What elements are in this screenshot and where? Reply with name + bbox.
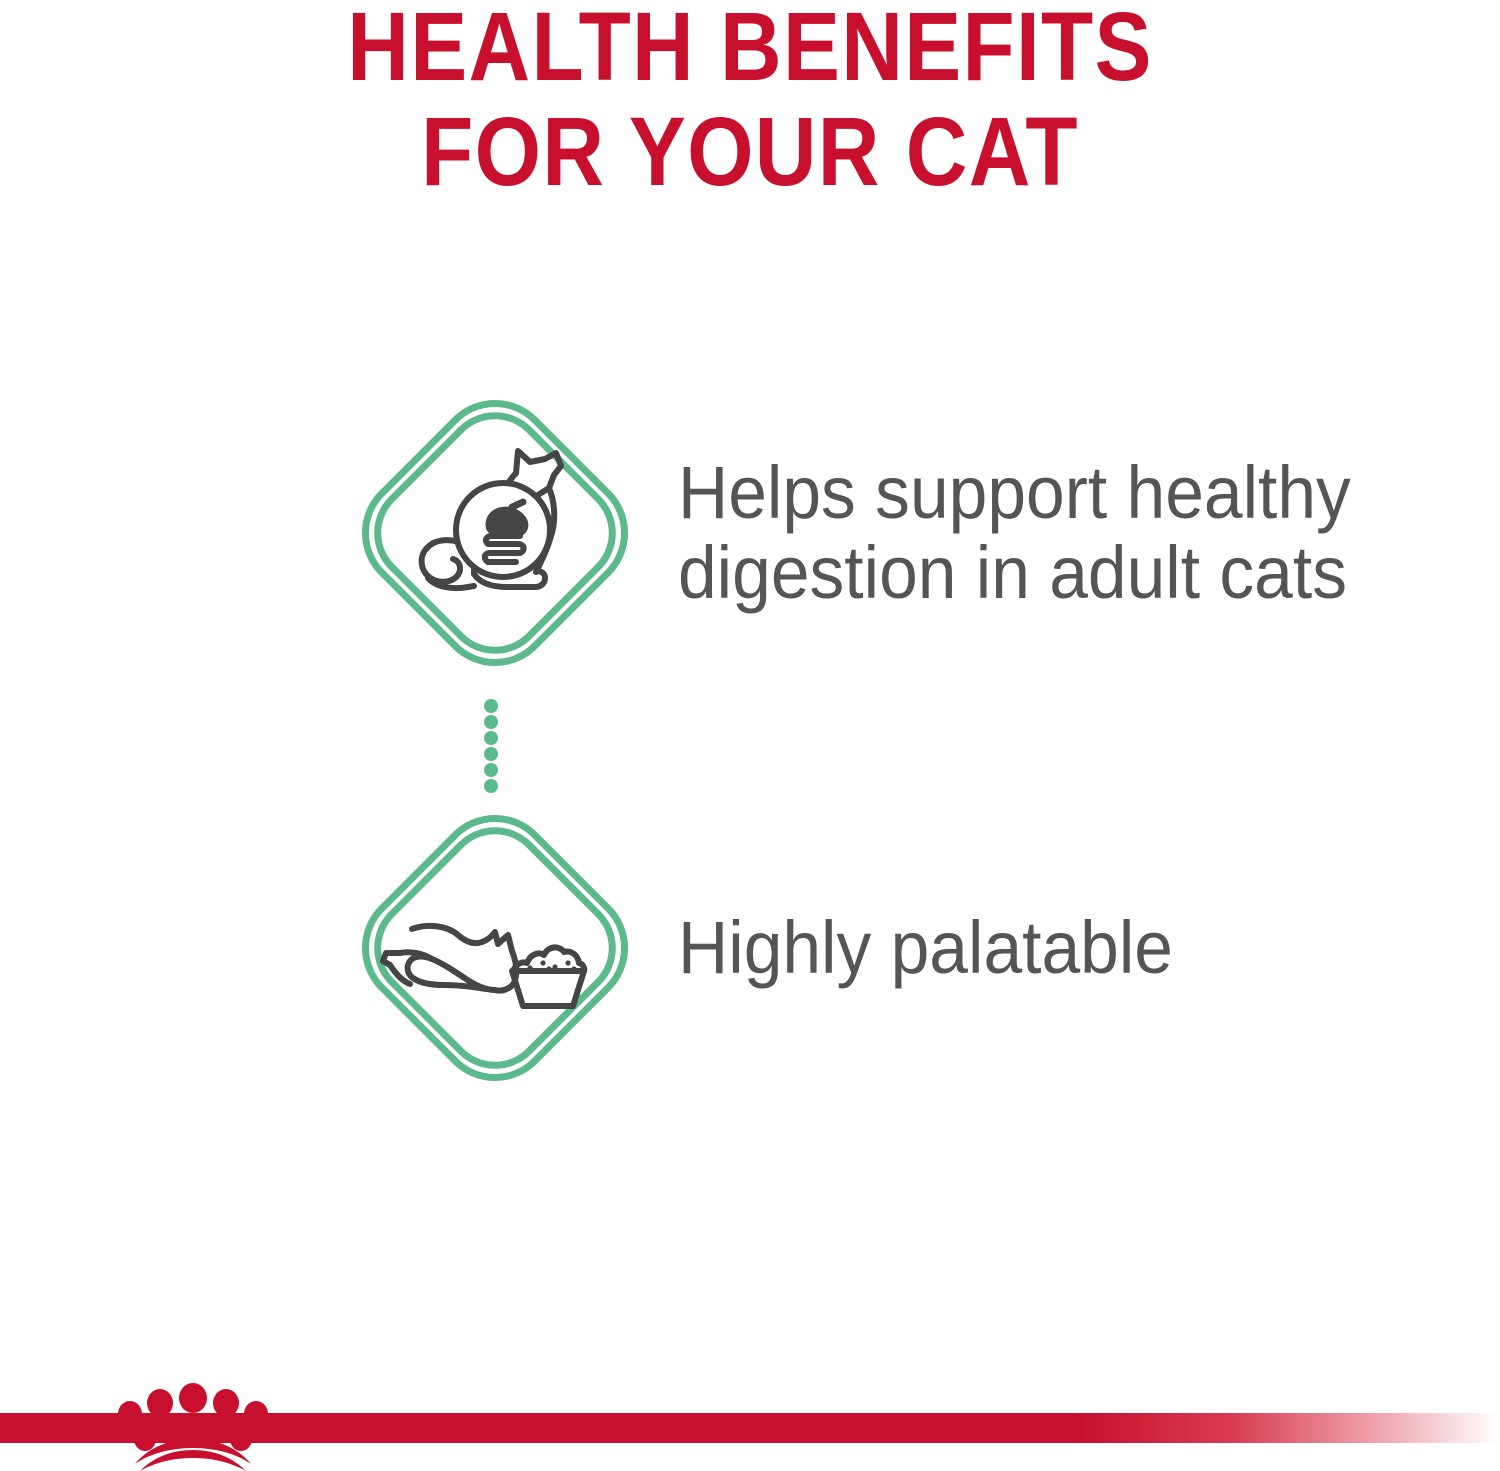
benefit-text-palatable: Highly palatable <box>678 908 1173 988</box>
connector-dot <box>484 747 498 761</box>
benefit-item-digestion: Helps support healthy digestion in adult… <box>340 378 1470 688</box>
royal-canin-crown-logo <box>104 1378 284 1471</box>
cat-digestion-icon <box>340 378 650 688</box>
connector-dot <box>484 715 498 729</box>
dotted-connector <box>484 699 504 789</box>
title-line-2: FOR YOUR CAT <box>90 99 1410 204</box>
connector-dot <box>484 779 498 793</box>
title-line-1: HEALTH BENEFITS <box>90 0 1410 99</box>
benefit-text-digestion: Helps support healthy digestion in adult… <box>678 453 1422 613</box>
cat-eating-bowl-icon <box>340 793 650 1103</box>
page-title: HEALTH BENEFITS FOR YOUR CAT <box>0 0 1500 204</box>
page-root: HEALTH BENEFITS FOR YOUR CAT <box>0 0 1500 1471</box>
connector-dot <box>484 731 498 745</box>
connector-dot <box>484 763 498 777</box>
benefits-list: Helps support healthy digestion in adult… <box>0 378 1500 1108</box>
benefit-item-palatable: Highly palatable <box>340 793 1470 1103</box>
connector-dot <box>484 699 498 713</box>
